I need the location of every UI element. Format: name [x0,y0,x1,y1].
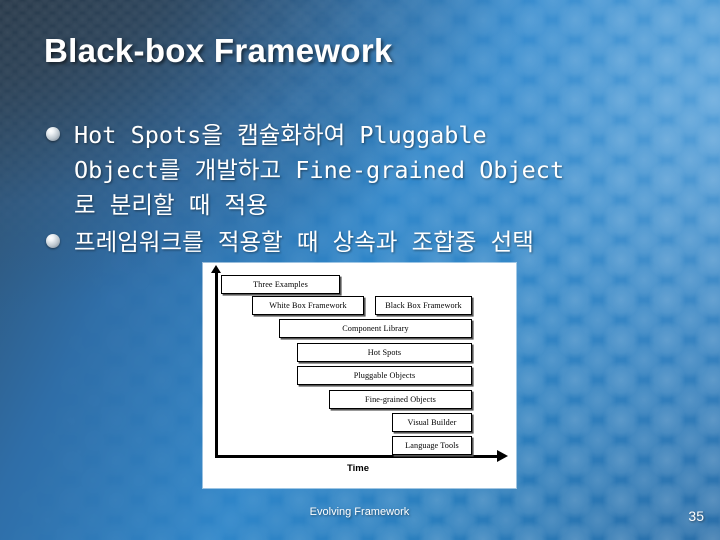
axis-label-time: Time [215,463,501,474]
list-item: Hot Spots을 캡슐화하여 Pluggable Object를 개발하고 … [44,118,704,223]
sphere-bullet-icon [46,234,60,248]
diagram-box-component-library: Component Library [279,319,472,338]
list-item: 프레임워크를 적용할 때 상속과 조합중 선택 [44,225,704,260]
slide-canvas: Black-box Framework Hot Spots을 캡슐화하여 Plu… [0,0,720,540]
bullet-text-2: 프레임워크를 적용할 때 상속과 조합중 선택 [74,225,704,260]
diagram-box-hot-spots: Hot Spots [297,343,472,362]
bullet-text-1: Hot Spots을 캡슐화하여 Pluggable Object를 개발하고 … [74,118,704,223]
page-title: Black-box Framework [44,32,684,70]
diagram-box-fine-grained-objects: Fine-grained Objects [329,390,472,409]
figure-caption: Evolving Framework [203,506,516,518]
horizontal-axis-line [215,455,501,458]
sphere-bullet-icon [46,127,60,141]
diagram-box-black-box-framework: Black Box Framework [375,296,472,315]
diagram-box-visual-builder: Visual Builder [392,413,472,432]
diagram-box-language-tools: Language Tools [392,436,472,455]
vertical-axis-line [215,270,218,458]
bullet-list: Hot Spots을 캡슐화하여 Pluggable Object를 개발하고 … [44,118,704,262]
diagram-box-three-examples: Three Examples [221,275,340,294]
horizontal-axis-arrow-icon [497,450,508,462]
diagram-content: Three Examples White Box Framework Black… [203,263,516,488]
vertical-axis-arrow-icon [211,265,221,273]
page-number: 35 [688,508,704,524]
diagram-box-pluggable-objects: Pluggable Objects [297,366,472,385]
evolving-framework-diagram: Three Examples White Box Framework Black… [203,263,516,488]
diagram-box-white-box-framework: White Box Framework [252,296,364,315]
